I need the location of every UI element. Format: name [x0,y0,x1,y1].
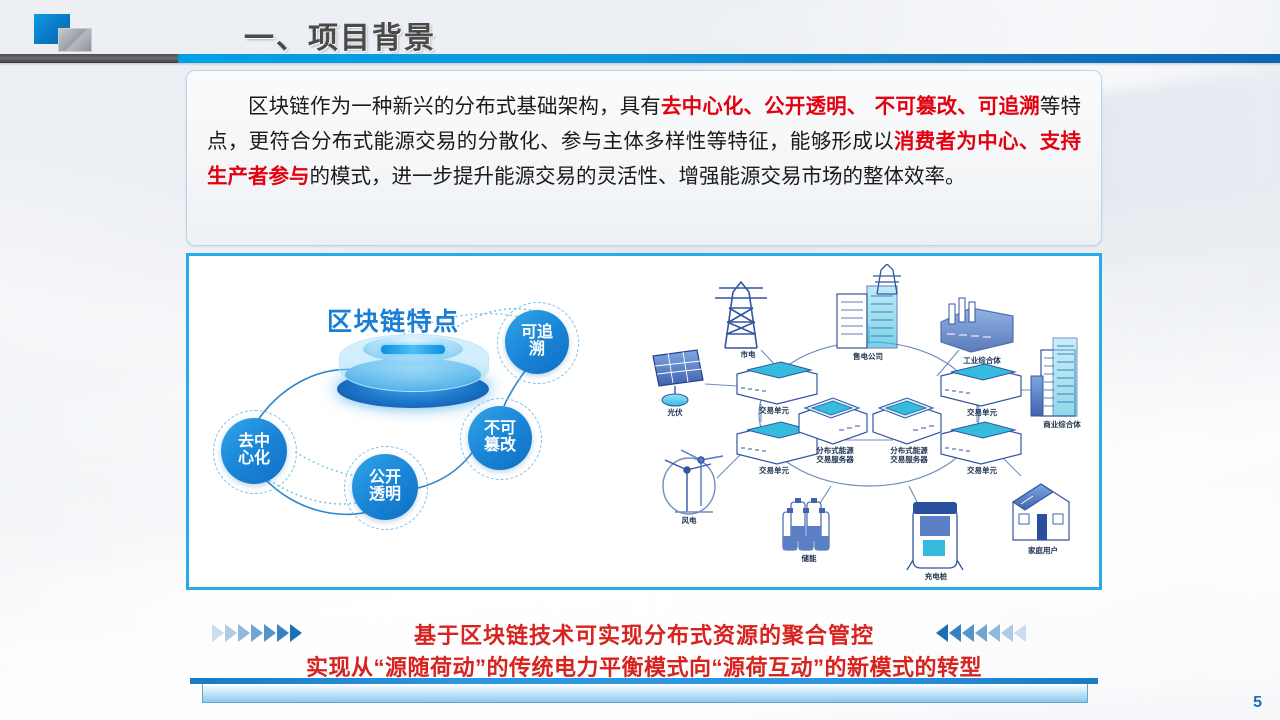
network-label-charger: 充电桩 [913,572,959,581]
header-rule-blue [178,54,1280,63]
network-label-wind: 风电 [667,516,711,525]
bubble-decentralization[interactable]: 去中心化 [221,418,287,484]
body-paragraph: 区块链作为一种新兴的分布式基础架构，具有去中心化、公开透明、 不可篡改、可追溯等… [187,71,1101,194]
banner-pedestal [190,678,1098,706]
body-text-run: 区块链作为一种新兴的分布式基础架构，具有 [248,94,661,118]
slide-header: 一、项目背景 [0,0,1280,66]
network-label-unit-top-left: 交易单元 [745,406,803,415]
network-label-unit-bottom-right: 交易单元 [953,466,1011,475]
bubble-label-immutability: 不可篡改 [482,421,518,455]
network-label-grid: 市电 [723,350,773,359]
logo-gray-square-icon [58,28,92,52]
network-label-unit-top-right: 交易单元 [953,408,1011,417]
bubble-label-transparency: 公开透明 [367,470,403,504]
header-rule-gray [0,54,178,63]
body-text-run: 的模式，进一步提升能源交易的灵活性、增强能源交易市场的整体效率。 [310,164,966,188]
header-rule-shadow [0,63,1280,66]
network-label-storage: 储能 [787,554,831,563]
bubble-immutability[interactable]: 不可篡改 [468,406,532,470]
network-label-unit-bottom-left: 交易单元 [745,466,803,475]
network-label-server-left: 分布式能源交易服务器 [801,446,869,465]
blockchain-feature-graphic: 区块链特点 去中心化 公开透明 不可篡改 [199,266,629,581]
banner-line-1: 基于区块链技术可实现分布式资源的聚合管控 [186,618,1102,650]
page-number: 5 [1253,694,1262,712]
blockchain-graphic-title: 区块链特点 [327,302,460,338]
network-label-commercial: 商业综合体 [1029,420,1095,429]
bubble-label-traceability: 可追溯 [519,325,555,359]
network-label-industrial: 工业综合体 [947,356,1017,365]
bubble-traceability[interactable]: 可追溯 [505,310,569,374]
logo [34,14,94,50]
network-label-retailer: 售电公司 [837,352,899,361]
slide-root: 一、项目背景 区块链作为一种新兴的分布式基础架构，具有去中心化、公开透明、 不可… [0,0,1280,720]
bubble-label-decentralization: 去中心化 [236,434,272,468]
body-text-panel: 区块链作为一种新兴的分布式基础架构，具有去中心化、公开透明、 不可篡改、可追溯等… [186,70,1102,246]
body-text-highlight: 去中心化、公开透明、 不可篡改、可追溯 [661,94,1040,118]
energy-network-graphic: 市电 售电公司 工业综合体 光伏 商业综合体 风电 储能 充电桩 家庭用户 交易… [641,264,1097,584]
figure-panel: 区块链特点 去中心化 公开透明 不可篡改 [186,253,1102,590]
summary-banner: 基于区块链技术可实现分布式资源的聚合管控 实现从“源随荷动”的传统电力平衡模式向… [186,608,1102,678]
bubble-transparency[interactable]: 公开透明 [352,454,418,520]
network-label-household: 家庭用户 [1015,546,1071,555]
page-title: 一、项目背景 [244,13,436,57]
blockchain-disc-icon [333,328,493,410]
network-label-server-right: 分布式能源交易服务器 [875,446,943,465]
network-label-pv: 光伏 [653,408,697,417]
